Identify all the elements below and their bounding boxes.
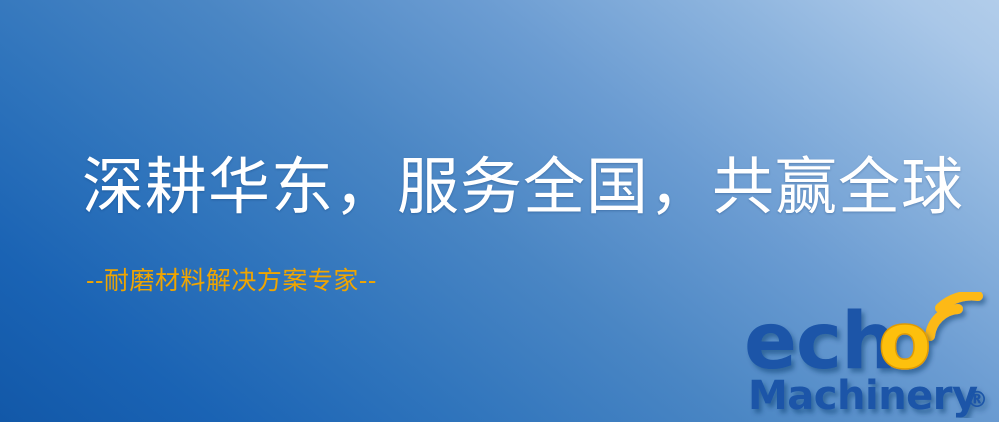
banner-headline: 深耕华东，服务全国，共赢全球 <box>82 152 964 222</box>
hero-banner: 深耕华东，服务全国，共赢全球 --耐磨材料解决方案专家-- ech o Mach… <box>0 0 999 422</box>
logo-tagline: Machinery <box>748 373 978 418</box>
logo-registered-mark: ® <box>966 388 988 413</box>
echo-machinery-logo[interactable]: ech o Machinery ® <box>744 292 996 418</box>
signal-arcs-icon <box>930 296 978 336</box>
banner-subtitle: --耐磨材料解决方案专家-- <box>86 265 377 297</box>
